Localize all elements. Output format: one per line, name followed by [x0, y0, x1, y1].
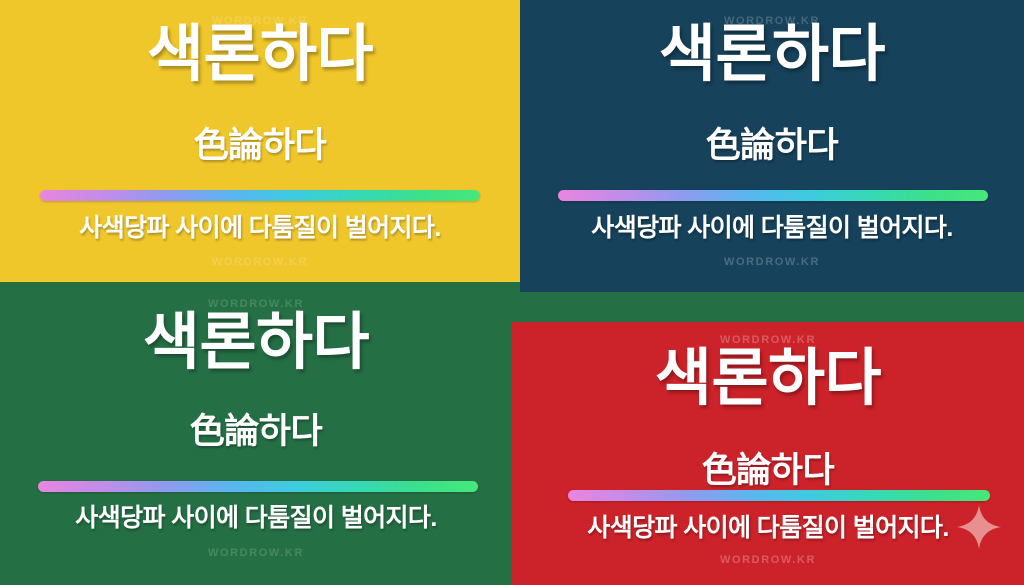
gradient-divider	[568, 490, 990, 501]
card-definition: 사색당파 사이에 다툼질이 벌어지다.	[512, 514, 1024, 543]
card-definition: 사색당파 사이에 다툼질이 벌어지다.	[0, 504, 512, 533]
card-yellow[interactable]: WORDROW.KR 색론하다 色論하다 사색당파 사이에 다툼질이 벌어지다.…	[0, 0, 520, 282]
gradient-divider	[558, 190, 988, 201]
card-definition: 사색당파 사이에 다툼질이 벌어지다.	[520, 214, 1024, 243]
watermark-bottom: WORDROW.KR	[520, 256, 1024, 268]
card-subtitle-hanja: 色論하다	[520, 128, 1024, 163]
gradient-divider	[38, 481, 478, 492]
card-navy[interactable]: WORDROW.KR 색론하다 色論하다 사색당파 사이에 다툼질이 벌어지다.…	[520, 0, 1024, 292]
watermark-bottom: WORDROW.KR	[0, 256, 520, 268]
card-title-hangul: 색론하다	[512, 348, 1024, 410]
card-title-hangul: 색론하다	[0, 24, 520, 86]
gradient-divider	[40, 190, 480, 201]
watermark-bottom: WORDROW.KR	[512, 554, 1024, 566]
card-red[interactable]: WORDROW.KR 색론하다 色論하다 사색당파 사이에 다툼질이 벌어지다.…	[512, 322, 1024, 585]
card-title-hangul: 색론하다	[520, 24, 1024, 86]
card-subtitle-hanja: 色論하다	[0, 414, 512, 449]
card-definition: 사색당파 사이에 다툼질이 벌어지다.	[0, 214, 520, 243]
card-subtitle-hanja: 色論하다	[0, 128, 520, 163]
card-title-hangul: 색론하다	[0, 312, 512, 374]
card-grid: WORDROW.KR 색론하다 色論하다 사색당파 사이에 다툼질이 벌어지다.…	[0, 0, 1024, 585]
card-subtitle-hanja: 色論하다	[512, 453, 1024, 488]
watermark-bottom: WORDROW.KR	[0, 547, 512, 559]
